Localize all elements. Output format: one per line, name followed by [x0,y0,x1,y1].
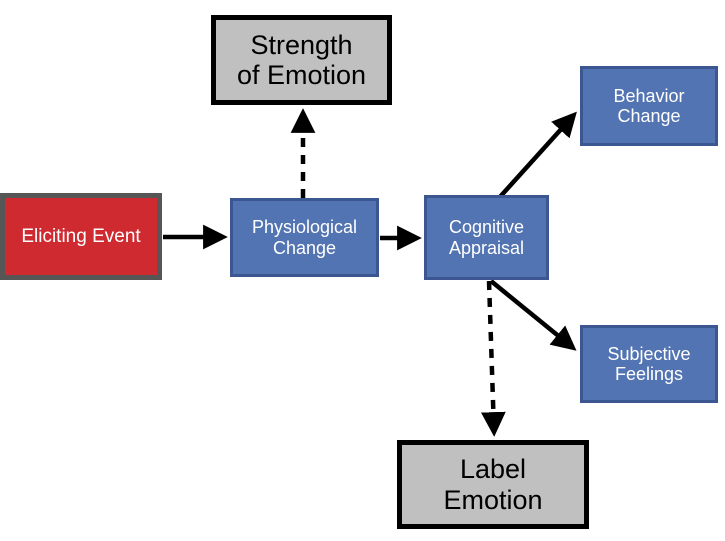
node-behavior-change[interactable]: Behavior Change [580,66,718,146]
edge-cognitive-to-subjective [491,281,572,347]
node-behavior-change-label: Behavior Change [613,86,684,126]
node-subjective-feelings[interactable]: Subjective Feelings [580,325,718,403]
node-physiological-change[interactable]: Physiological Change [230,198,379,277]
node-physiological-change-label: Physiological Change [252,217,357,257]
node-subjective-feelings-label: Subjective Feelings [607,344,690,384]
node-label-emotion[interactable]: Label Emotion [397,440,589,529]
diagram-canvas: Eliciting Event Strength of Emotion Phys… [0,0,725,541]
node-label-emotion-label: Label Emotion [443,454,542,514]
node-eliciting-event-label: Eliciting Event [21,226,140,247]
edge-cognitive-to-behavior [499,116,573,198]
node-cognitive-appraisal[interactable]: Cognitive Appraisal [424,195,549,280]
node-cognitive-appraisal-label: Cognitive Appraisal [449,217,524,257]
node-eliciting-event[interactable]: Eliciting Event [0,193,162,280]
node-strength-of-emotion[interactable]: Strength of Emotion [211,15,392,105]
edge-cognitive-to-label [489,281,494,431]
node-strength-of-emotion-label: Strength of Emotion [237,30,366,90]
